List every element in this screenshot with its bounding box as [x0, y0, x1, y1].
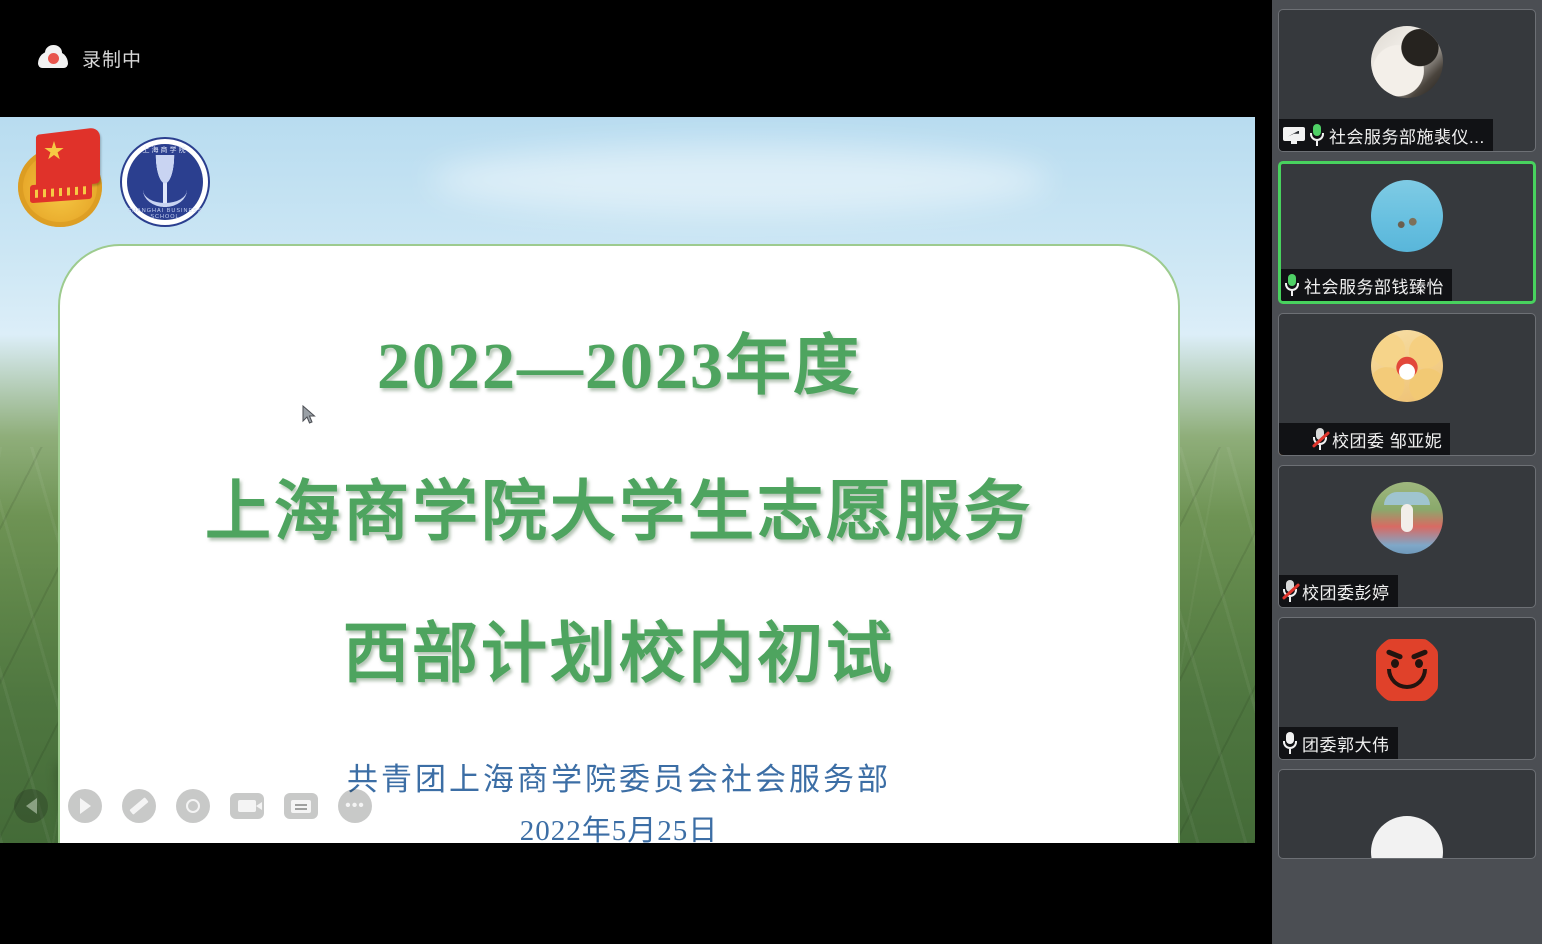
- participant-tile-active-speaker[interactable]: 社会服务部钱臻怡: [1278, 161, 1536, 304]
- participant-name: 团委郭大伟: [1302, 731, 1390, 756]
- participant-tile-partial[interactable]: [1278, 769, 1536, 859]
- participant-namebar: 校团委彭婷: [1279, 575, 1398, 607]
- slide-title-line1: 2022—2023年度: [377, 312, 861, 408]
- pen-icon[interactable]: [122, 789, 156, 823]
- laser-pointer-icon[interactable]: [176, 789, 210, 823]
- communist-youth-league-emblem-icon: [14, 131, 110, 227]
- avatar: [1371, 634, 1443, 706]
- microphone-icon: [1310, 124, 1324, 146]
- captions-icon[interactable]: [284, 793, 318, 819]
- microphone-muted-icon: [1313, 428, 1327, 450]
- avatar: [1371, 816, 1443, 859]
- shanghai-business-school-logo-icon: 上海商学院 SHANGHAI BUSINESS SCHOOL: [120, 137, 210, 227]
- participant-tile[interactable]: 社会服务部施裴仪...: [1278, 9, 1536, 152]
- logo-bottom-text: SHANGHAI BUSINESS SCHOOL: [120, 208, 210, 220]
- avatar: [1371, 180, 1443, 252]
- presenter-toolbar[interactable]: •••: [14, 789, 372, 823]
- participant-namebar: 社会服务部施裴仪...: [1279, 119, 1493, 151]
- avatar: [1371, 26, 1443, 98]
- recording-label: 录制中: [82, 45, 142, 72]
- slide-logos: 上海商学院 SHANGHAI BUSINESS SCHOOL: [14, 131, 210, 227]
- mouse-cursor-icon: [302, 405, 316, 425]
- cloud-record-icon: [38, 48, 68, 70]
- participant-name: 校团委彭婷: [1302, 579, 1390, 604]
- slide-subtitle-org: 共青团上海商学院委员会社会服务部: [347, 754, 891, 799]
- participant-tile[interactable]: 校团委彭婷: [1278, 465, 1536, 608]
- slide-title-line3: 西部计划校内初试: [343, 600, 895, 696]
- participant-tile[interactable]: 校团委 邹亚妮: [1278, 313, 1536, 456]
- slide-title-line2: 上海商学院大学生志愿服务: [205, 458, 1033, 554]
- cloud-decoration: [430, 145, 1050, 215]
- microphone-muted-icon: [1283, 580, 1297, 602]
- camera-icon[interactable]: [230, 793, 264, 819]
- avatar: [1371, 330, 1443, 402]
- participant-name: 社会服务部钱臻怡: [1304, 273, 1444, 298]
- participant-name: 校团委 邹亚妮: [1332, 427, 1442, 452]
- prev-slide-icon[interactable]: [14, 789, 48, 823]
- slide-content-card: 2022—2023年度 上海商学院大学生志愿服务 西部计划校内初试 共青团上海商…: [58, 244, 1180, 843]
- screen-share-icon: [1283, 127, 1305, 144]
- shared-slide-area[interactable]: 上海商学院 SHANGHAI BUSINESS SCHOOL 2022—2023…: [0, 117, 1255, 843]
- play-icon[interactable]: [68, 789, 102, 823]
- participant-name: 社会服务部施裴仪...: [1329, 123, 1485, 148]
- microphone-icon: [1285, 274, 1299, 296]
- participant-namebar: 团委郭大伟: [1279, 727, 1398, 759]
- participant-namebar: 校团委 邹亚妮: [1279, 423, 1450, 455]
- recording-bar: 录制中: [0, 0, 1272, 117]
- meeting-screen-share-view: 录制中 上海商学院 SHANGHAI BUSINESS SCHOOL 2022—…: [0, 0, 1542, 944]
- slide-subtitle-date: 2022年5月25日: [520, 807, 719, 843]
- more-options-icon[interactable]: •••: [338, 789, 372, 823]
- logo-top-text: 上海商学院: [120, 145, 210, 155]
- participant-namebar: 社会服务部钱臻怡: [1281, 269, 1452, 301]
- participant-tile[interactable]: 团委郭大伟: [1278, 617, 1536, 760]
- participant-sidebar[interactable]: 社会服务部施裴仪... 社会服务部钱臻怡 校团委 邹亚妮: [1272, 0, 1542, 944]
- avatar: [1371, 482, 1443, 554]
- microphone-icon: [1283, 732, 1297, 754]
